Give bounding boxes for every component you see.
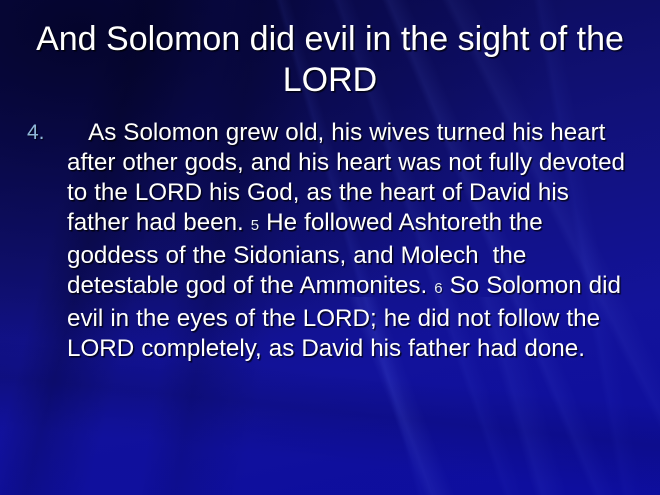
bullet-number: 4. <box>27 118 67 148</box>
verse-number: 6 <box>434 280 442 297</box>
slide-content: And Solomon did evil in the sight of the… <box>0 0 660 495</box>
slide-title: And Solomon did evil in the sight of the… <box>22 19 638 101</box>
slide-body-text: As Solomon grew old, his wives turned hi… <box>67 118 634 364</box>
verse-number: 5 <box>251 217 259 234</box>
presentation-slide: And Solomon did evil in the sight of the… <box>0 0 660 495</box>
slide-body-block: 4. As Solomon grew old, his wives turned… <box>27 118 634 364</box>
